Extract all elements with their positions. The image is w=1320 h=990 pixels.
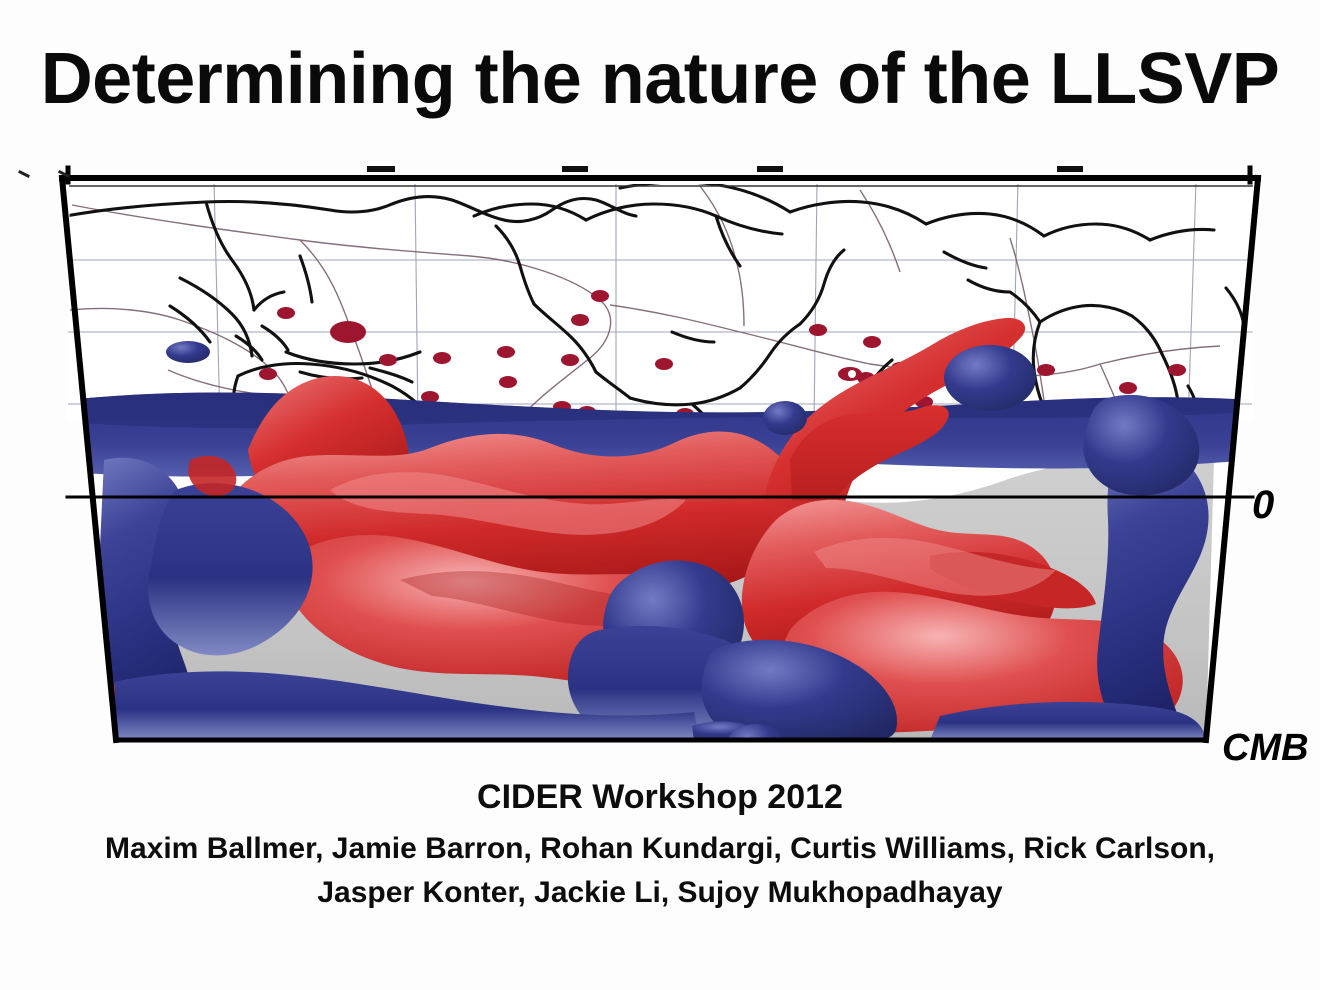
blue-blob-atlantic	[763, 401, 807, 435]
depth-label-top: 0	[1252, 483, 1274, 527]
authors-line-2: Jasper Konter, Jackie Li, Sujoy Mukhopad…	[0, 871, 1320, 915]
mantle-tomography-figure: 0 CMB	[0, 160, 1320, 780]
blue-blob-southern-africa	[944, 345, 1036, 411]
workshop-label: CIDER Workshop 2012	[0, 775, 1320, 819]
tomography-svg: 0 CMB	[0, 160, 1320, 780]
blue-oval-isolated	[726, 724, 786, 768]
slide-root: Determining the nature of the LLSVP	[0, 0, 1320, 990]
caption-block: CIDER Workshop 2012 Maxim Ballmer, Jamie…	[0, 775, 1320, 915]
hotspot-highlight	[848, 370, 856, 378]
depth-label-cmb: CMB	[1222, 727, 1309, 769]
page-title: Determining the nature of the LLSVP	[0, 36, 1320, 122]
blue-blob-indonesia	[166, 341, 210, 363]
authors-line-1: Maxim Ballmer, Jamie Barron, Rohan Kunda…	[0, 827, 1320, 871]
